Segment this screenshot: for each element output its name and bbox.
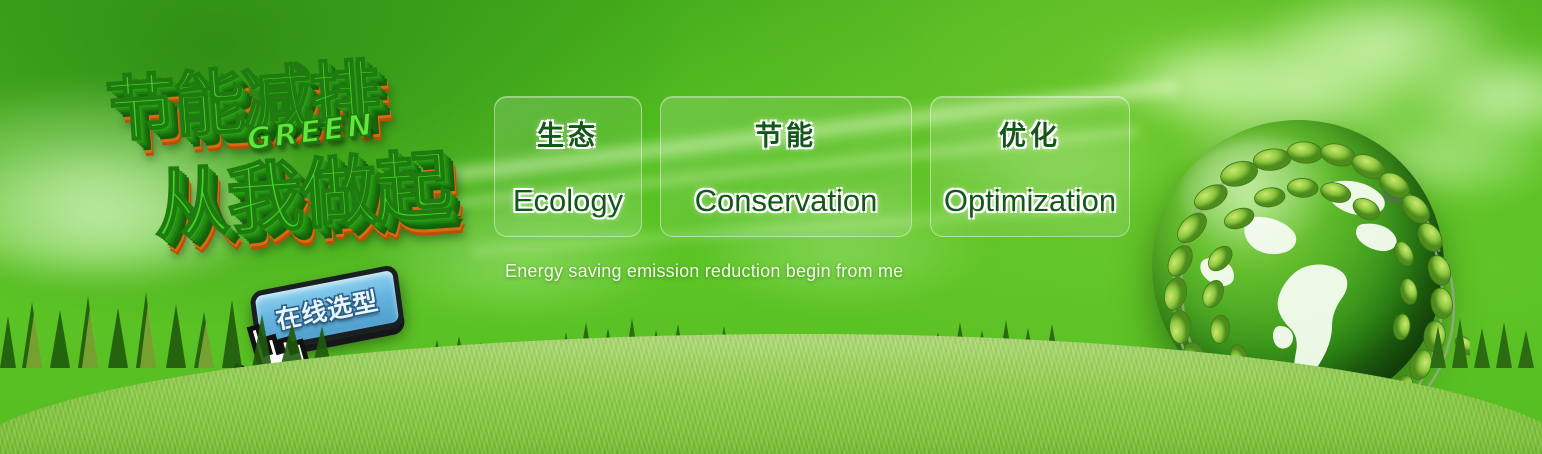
feature-card-optimization[interactable]: 优化 Optimization [930,96,1130,237]
cloud-icon [1262,0,1512,88]
globe-highlight [1181,138,1345,255]
eco-promo-banner: 节能减排 GREEN 从我做起 在线选型 生态 Ecology 节能 Conse… [0,0,1542,454]
feature-card-title-en: Conservation [695,183,878,219]
feature-card-list: 生态 Ecology 节能 Conservation 优化 Optimizati… [494,96,1130,237]
feature-card-title-cn: 节能 [755,114,817,153]
banner-tagline: Energy saving emission reduction begin f… [505,261,903,282]
feature-card-title-cn: 生态 [537,114,599,153]
headline-group: 节能减排 GREEN 从我做起 [88,24,503,281]
feature-card-title-en: Optimization [944,183,1116,219]
feature-card-title-en: Ecology [513,183,623,219]
feature-card-conservation[interactable]: 节能 Conservation [660,96,912,237]
feature-card-title-cn: 优化 [999,114,1061,153]
feature-card-ecology[interactable]: 生态 Ecology [494,96,642,237]
headline-line-2: 从我做起 [149,124,452,254]
